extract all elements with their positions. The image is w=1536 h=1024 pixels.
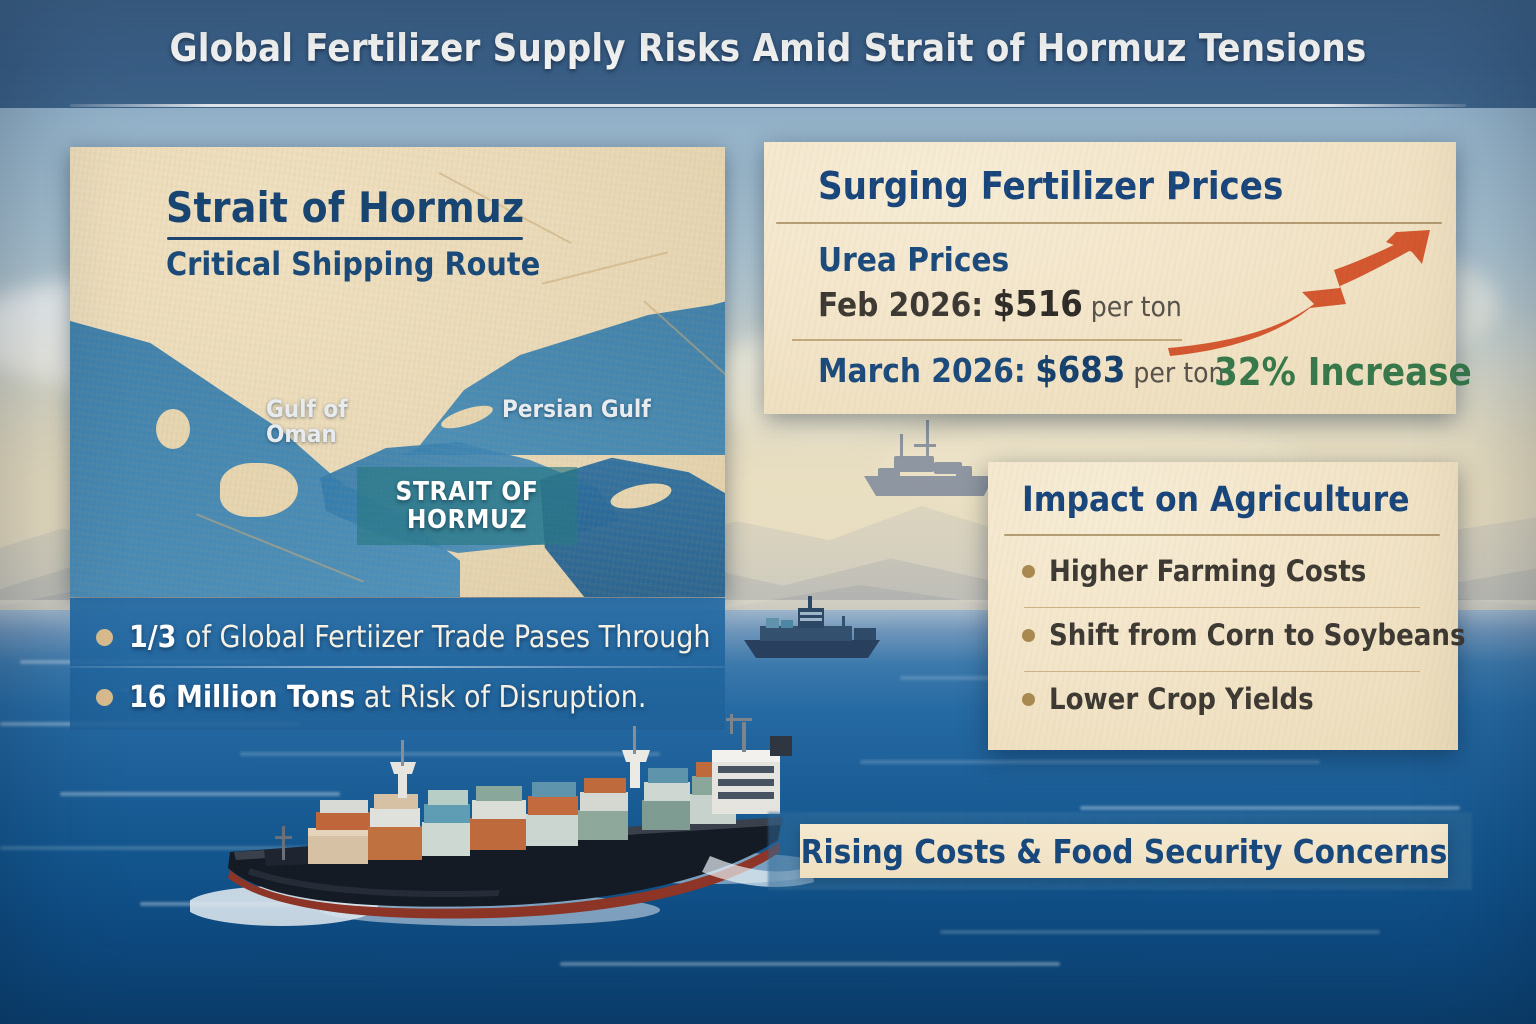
surging-fertilizer-prices-card: Surging Fertilizer Prices Urea Prices Fe… <box>764 142 1456 414</box>
map-river <box>542 251 669 284</box>
strait-of-hormuz-callout: STRAIT OF HORMUZ <box>357 467 577 545</box>
price-row-feb-label: Feb 2026: <box>818 285 983 324</box>
impact-card-divider <box>1004 534 1440 536</box>
list-item: Shift from Corn to Soybeans <box>1022 618 1466 652</box>
prices-card-title: Surging Fertilizer Prices <box>818 164 1283 208</box>
wave-streak <box>940 930 1380 934</box>
page-title: Global Fertilizer Supply Risks Amid Stra… <box>0 26 1536 70</box>
prices-card-divider <box>776 222 1442 224</box>
map-label-line: Gulf of <box>266 397 348 422</box>
map-subtitle: Critical Shipping Route <box>166 245 540 283</box>
map-island <box>156 409 190 449</box>
impact-item-label: Shift from Corn to Soybeans <box>1049 618 1466 652</box>
distant-cargo-ship-icon <box>730 592 910 668</box>
price-row-march-label: March 2026: <box>818 351 1026 390</box>
infographic-canvas: Global Fertilizer Supply Risks Amid Stra… <box>0 0 1536 1024</box>
statistic-value: 1/3 <box>129 620 176 655</box>
increase-badge: 32% Increase <box>1214 350 1472 394</box>
price-row-march-value: $683 <box>1035 350 1125 391</box>
map-water-gulf-of-oman <box>70 277 460 597</box>
map-label-persian-gulf: Persian Gulf <box>502 397 651 422</box>
header-divider <box>70 104 1466 107</box>
statistic-label: of Global Fertiizer Trade Pases Through <box>176 620 710 655</box>
bullet-dot-icon <box>1022 693 1035 706</box>
statistics-divider <box>70 666 725 668</box>
wave-streak <box>1080 806 1460 810</box>
impact-card-title: Impact on Agriculture <box>1022 480 1409 520</box>
price-row-feb: Feb 2026: $516 per ton <box>818 284 1182 325</box>
list-item: Lower Crop Yields <box>1022 682 1314 716</box>
bullet-dot-icon <box>1022 629 1035 642</box>
impact-item-label: Lower Crop Yields <box>1049 682 1314 716</box>
wave-streak <box>560 962 1060 966</box>
price-row-feb-value: $516 <box>993 284 1083 325</box>
strait-callout-line2: HORMUZ <box>407 505 527 535</box>
strait-callout-line1: STRAIT OF <box>396 477 539 507</box>
map-label-gulf-of-oman: Gulf of Oman <box>266 397 348 447</box>
list-item: 1/3 of Global Fertiizer Trade Pases Thro… <box>96 620 711 655</box>
price-row-march-unit: per ton <box>1125 356 1224 389</box>
container-cargo-ship-icon <box>190 700 830 940</box>
map-label-line: Oman <box>266 422 348 447</box>
impact-item-divider <box>1024 671 1420 672</box>
map-panel: Strait of Hormuz Critical Shipping Route… <box>70 147 725 597</box>
impact-item-label: Higher Farming Costs <box>1049 554 1366 588</box>
wave-streak <box>860 760 1320 764</box>
bottom-banner-text: Rising Costs & Food Security Concerns <box>801 832 1448 871</box>
strait-callout-text: STRAIT OF HORMUZ <box>396 478 539 534</box>
bullet-dot-icon <box>1022 565 1035 578</box>
impact-on-agriculture-card: Impact on Agriculture Higher Farming Cos… <box>988 462 1458 750</box>
map-title-underline <box>167 237 523 240</box>
list-item: Higher Farming Costs <box>1022 554 1366 588</box>
map-title: Strait of Hormuz <box>166 183 524 232</box>
urea-prices-label: Urea Prices <box>818 240 1009 279</box>
upward-trend-arrow-icon <box>1164 230 1444 360</box>
impact-item-divider <box>1024 607 1420 608</box>
bullet-dot-icon <box>96 629 113 646</box>
bullet-dot-icon <box>96 689 113 706</box>
bottom-banner: Rising Costs & Food Security Concerns <box>800 824 1448 878</box>
prices-row-divider <box>792 339 1182 341</box>
statistic-text: 1/3 of Global Fertiizer Trade Pases Thro… <box>129 620 711 655</box>
